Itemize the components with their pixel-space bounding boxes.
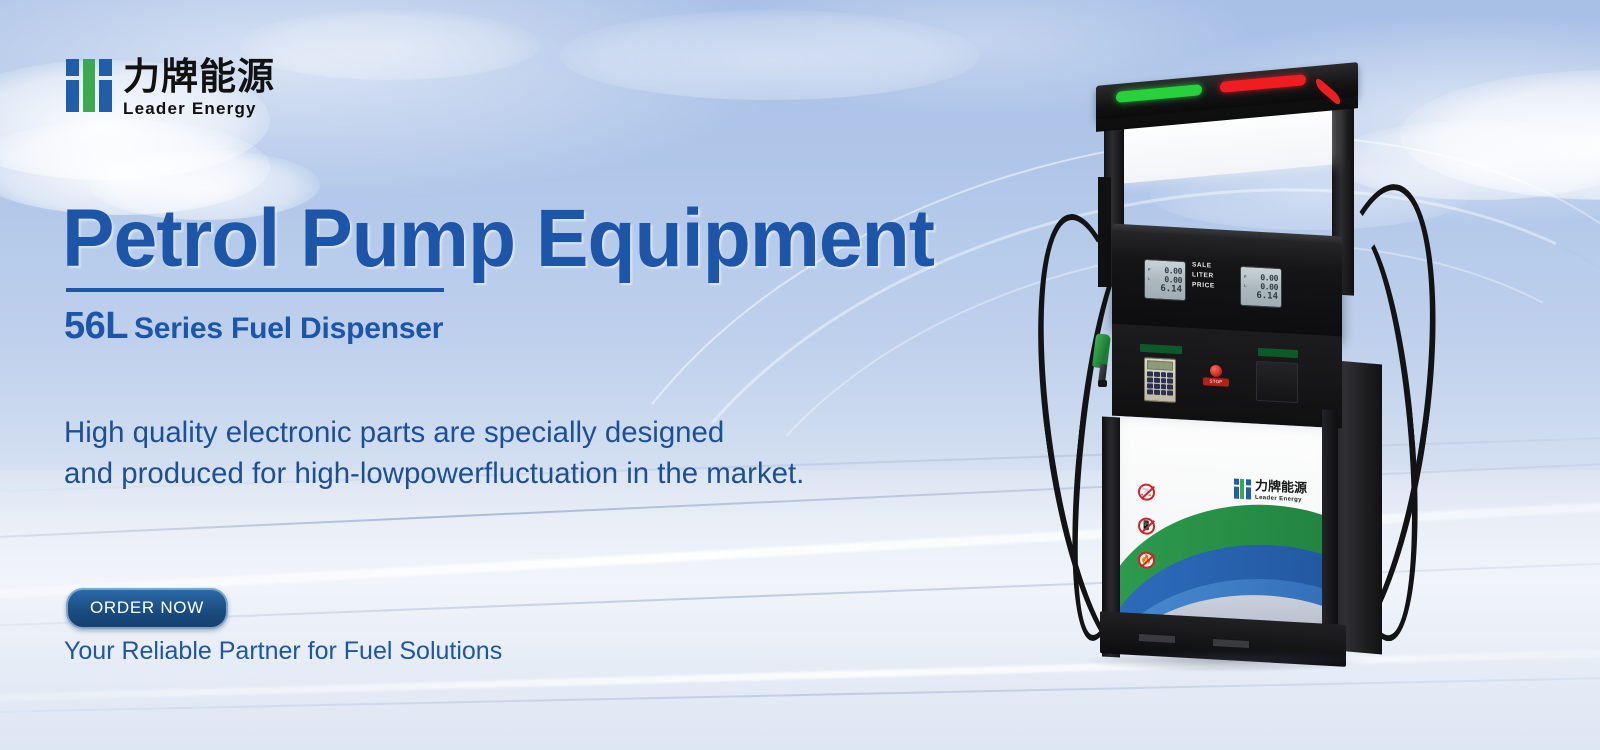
- subtitle: 56LSeries Fuel Dispenser: [64, 305, 443, 348]
- door-logo-chinese-name: 力牌能源: [1255, 480, 1307, 496]
- lcd-tag-sale: P: [1148, 267, 1150, 272]
- body-copy-line-1: High quality electronic parts are specia…: [64, 413, 804, 454]
- cloud: [240, 10, 540, 80]
- title-divider: [66, 288, 444, 292]
- lcd-display-right: P 0.00 L 0.00 6.14: [1240, 266, 1282, 308]
- order-now-button[interactable]: ORDER NOW: [66, 588, 228, 629]
- fuel-nozzle-icon: [1090, 334, 1112, 386]
- door-brand-logo: 力牌能源 Leader Energy: [1234, 479, 1307, 504]
- keypad-keys[interactable]: [1147, 371, 1173, 395]
- subtitle-series: Series Fuel Dispenser: [134, 312, 443, 345]
- no-mobile-phone-icon: 📱: [1138, 517, 1155, 535]
- fuel-dispenser-image: P 0.00 L 0.00 6.14 SALE LITER PRICE P 0.…: [1060, 62, 1390, 662]
- no-open-flame-icon: 🔥: [1138, 551, 1155, 569]
- page-title: Petrol Pump Equipment: [62, 198, 934, 280]
- logo-english-name: Leader Energy: [123, 99, 275, 119]
- lcd-tag-liter: L: [1244, 283, 1246, 288]
- door-logo-mark-icon: [1234, 479, 1251, 500]
- subtitle-model: 56L: [64, 305, 128, 347]
- lcd-price-value: 6.14: [1244, 290, 1278, 302]
- display-label-price: PRICE: [1192, 281, 1215, 289]
- keypad-screen: [1147, 360, 1173, 370]
- keypad[interactable]: [1144, 357, 1176, 403]
- tagline: Your Reliable Partner for Fuel Solutions: [64, 637, 502, 666]
- ground-shadow: [1086, 650, 1366, 672]
- body-copy-line-2: and produced for high-lowpowerfluctuatio…: [64, 454, 804, 495]
- logo-chinese-name: 力牌能源: [123, 58, 275, 95]
- cloud: [1400, 70, 1600, 200]
- lcd-display-left: P 0.00 L 0.00 6.14: [1144, 259, 1186, 301]
- logo-mark-icon: [66, 58, 112, 112]
- display-label-liter: LITER: [1192, 271, 1215, 279]
- cloud: [560, 10, 980, 100]
- lcd-price-value: 6.14: [1148, 283, 1182, 295]
- frame-post: [1098, 177, 1111, 287]
- lcd-tag-sale: P: [1244, 274, 1246, 279]
- emergency-stop-button[interactable]: [1210, 365, 1222, 378]
- body-copy: High quality electronic parts are specia…: [64, 413, 804, 494]
- hero-banner: 力牌能源 Leader Energy Petrol Pump Equipment…: [0, 0, 1600, 750]
- lcd-tag-liter: L: [1148, 276, 1150, 281]
- brand-logo[interactable]: 力牌能源 Leader Energy: [66, 58, 275, 119]
- emergency-stop-label: STOP: [1203, 377, 1229, 386]
- display-labels: SALE LITER PRICE: [1192, 261, 1215, 289]
- dispenser-door-panel: 力牌能源 Leader Energy 🚬 📱 🔥: [1116, 416, 1332, 646]
- no-smoking-icon: 🚬: [1138, 483, 1155, 501]
- display-label-sale: SALE: [1192, 261, 1215, 269]
- card-reader-slot[interactable]: [1256, 361, 1298, 403]
